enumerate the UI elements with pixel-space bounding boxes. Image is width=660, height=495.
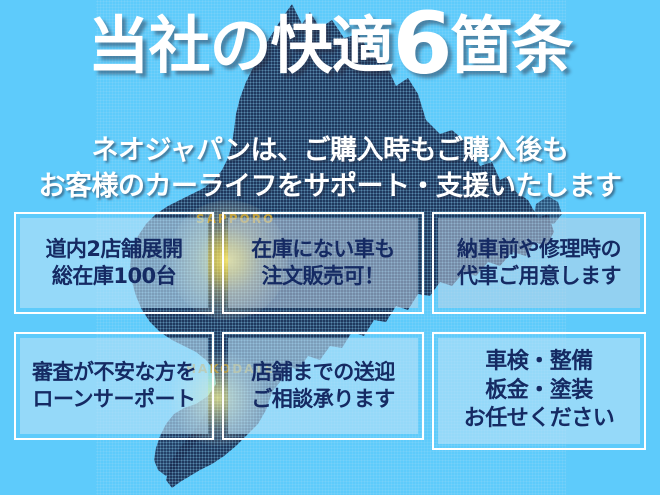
feature-box-1-line-1: 道内2店舗展開 (45, 236, 182, 263)
feature-box-1-text: 道内2店舗展開 総在庫100台 (45, 236, 182, 290)
feature-box-5: 店舗までの送迎 ご相談承ります (222, 332, 424, 440)
title-text-before: 当社の快適 (88, 9, 393, 82)
title-number: 6 (393, 0, 451, 94)
feature-box-5-text: 店舗までの送迎 ご相談承ります (251, 359, 395, 413)
feature-box-3: 納車前や修理時の 代車ご用意します (432, 212, 646, 314)
subtitle-line-1: ネオジャパンは、ご購入時もご購入後も (0, 133, 660, 169)
feature-box-3-line-2: 代車ご用意します (457, 263, 621, 290)
feature-box-2-line-1: 在庫にない車も (251, 236, 395, 263)
feature-box-2-text: 在庫にない車も 注文販売可！ (251, 236, 395, 290)
feature-box-2: 在庫にない車も 注文販売可！ (222, 212, 424, 314)
feature-box-6-line-2: 板金・塗装 (464, 377, 615, 406)
feature-box-4-line-2: ローンサーポート (32, 386, 196, 413)
feature-box-6-line-3: お任せください (464, 405, 615, 434)
feature-box-3-line-1: 納車前や修理時の (457, 236, 621, 263)
feature-box-6-line-1: 車検・整備 (464, 348, 615, 377)
feature-box-1-line-2: 総在庫100台 (45, 263, 182, 290)
subtitle-line-2: お客様のカーライフをサポート・支援いたします (0, 169, 660, 205)
feature-box-4-text: 審査が不安な方を ローンサーポート (32, 359, 196, 413)
feature-box-1: 道内2店舗展開 総在庫100台 (14, 212, 214, 314)
feature-box-2-line-2: 注文販売可！ (251, 263, 395, 290)
promo-banner: SAPPORO HAKODATE 当社の快適6箇条 ネオジャパンは、ご購入時もご… (0, 0, 660, 495)
feature-box-4-line-1: 審査が不安な方を (32, 359, 196, 386)
subtitle: ネオジャパンは、ご購入時もご購入後も お客様のカーライフをサポート・支援いたしま… (0, 133, 660, 204)
feature-box-6-text: 車検・整備 板金・塗装 お任せください (464, 348, 615, 434)
page-title: 当社の快適6箇条 (0, 10, 660, 79)
feature-box-5-line-2: ご相談承ります (251, 386, 395, 413)
feature-box-5-line-1: 店舗までの送迎 (251, 359, 395, 386)
title-text-after: 箇条 (450, 9, 572, 82)
feature-box-6: 車検・整備 板金・塗装 お任せください (432, 332, 646, 450)
feature-box-4: 審査が不安な方を ローンサーポート (14, 332, 214, 440)
feature-box-3-text: 納車前や修理時の 代車ご用意します (457, 236, 621, 290)
